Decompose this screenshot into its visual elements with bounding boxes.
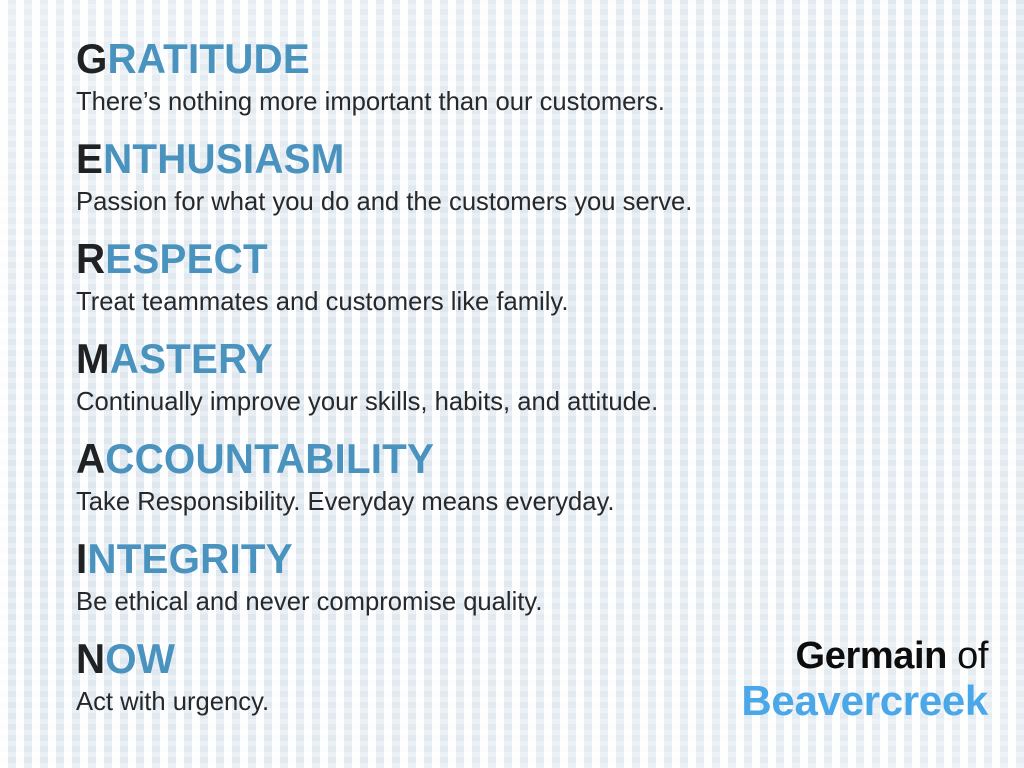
value-description-accountability: Take Responsibility. Everyday means ever… xyxy=(76,484,943,518)
value-initial-letter: R xyxy=(76,235,105,282)
value-initial-letter: I xyxy=(76,535,87,582)
value-heading-mastery: MASTERY xyxy=(76,336,921,382)
value-heading-respect: RESPECT xyxy=(76,236,921,282)
value-description-enthusiasm: Passion for what you do and the customer… xyxy=(76,184,943,218)
dealership-logo: Germain of Beavercreek xyxy=(741,636,988,724)
value-description-respect: Treat teammates and customers like famil… xyxy=(76,284,943,318)
logo-connector-word: of xyxy=(957,635,988,677)
value-description-mastery: Continually improve your skills, habits,… xyxy=(76,384,943,418)
value-remaining-letters: RATITUDE xyxy=(108,35,310,82)
value-initial-letter: A xyxy=(76,435,105,482)
value-remaining-letters: ASTERY xyxy=(110,335,273,382)
value-initial-letter: N xyxy=(76,635,105,682)
logo-connector xyxy=(947,635,957,677)
value-block-gratitude: GRATITUDE There’s nothing more important… xyxy=(76,36,956,136)
values-poster: GRATITUDE There’s nothing more important… xyxy=(0,0,1024,768)
value-remaining-letters: CCOUNTABILITY xyxy=(105,435,434,482)
value-remaining-letters: ESPECT xyxy=(105,235,267,282)
value-description-integrity: Be ethical and never compromise quality. xyxy=(76,584,943,618)
value-block-mastery: MASTERY Continually improve your skills,… xyxy=(76,336,956,436)
logo-location: Beavercreek xyxy=(741,678,988,724)
logo-line-primary: Germain of xyxy=(741,636,988,676)
value-heading-enthusiasm: ENTHUSIASM xyxy=(76,136,921,182)
value-block-integrity: INTEGRITY Be ethical and never compromis… xyxy=(76,536,956,636)
value-heading-integrity: INTEGRITY xyxy=(76,536,921,582)
core-values-list: GRATITUDE There’s nothing more important… xyxy=(76,36,956,736)
logo-dealer-name: Germain xyxy=(796,635,947,677)
value-heading-gratitude: GRATITUDE xyxy=(76,36,921,82)
value-initial-letter: G xyxy=(76,35,108,82)
value-block-accountability: ACCOUNTABILITY Take Responsibility. Ever… xyxy=(76,436,956,536)
value-block-enthusiasm: ENTHUSIASM Passion for what you do and t… xyxy=(76,136,956,236)
value-initial-letter: E xyxy=(76,135,103,182)
value-remaining-letters: NTHUSIASM xyxy=(103,135,344,182)
value-remaining-letters: NTEGRITY xyxy=(87,535,292,582)
value-remaining-letters: OW xyxy=(105,635,175,682)
value-initial-letter: M xyxy=(76,335,110,382)
value-description-gratitude: There’s nothing more important than our … xyxy=(76,84,943,118)
value-block-respect: RESPECT Treat teammates and customers li… xyxy=(76,236,956,336)
value-heading-accountability: ACCOUNTABILITY xyxy=(76,436,921,482)
